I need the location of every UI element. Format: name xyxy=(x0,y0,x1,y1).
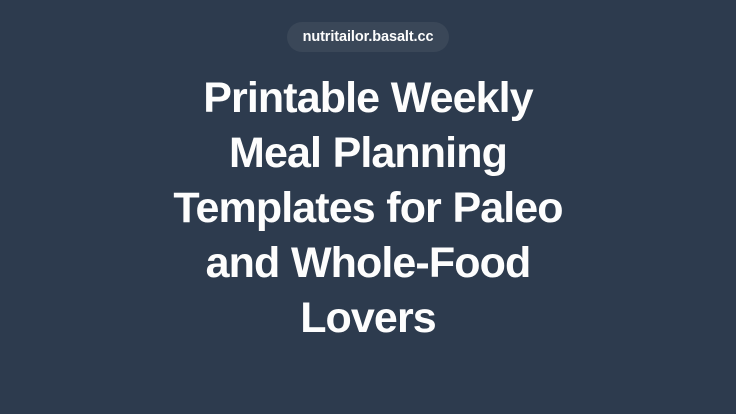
source-domain-label: nutritailor.basalt.cc xyxy=(303,30,434,45)
social-share-card: nutritailor.basalt.cc Printable Weekly M… xyxy=(0,0,736,414)
page-title-line: and Whole-Food xyxy=(133,236,603,291)
page-title-line: Lovers xyxy=(133,291,603,346)
page-title-line: Templates for Paleo xyxy=(133,181,603,236)
page-title-line: Printable Weekly xyxy=(133,71,603,126)
page-title-line: Meal Planning xyxy=(133,126,603,181)
page-title: Printable Weekly Meal Planning Templates… xyxy=(133,71,603,346)
source-domain-badge: nutritailor.basalt.cc xyxy=(287,22,450,52)
